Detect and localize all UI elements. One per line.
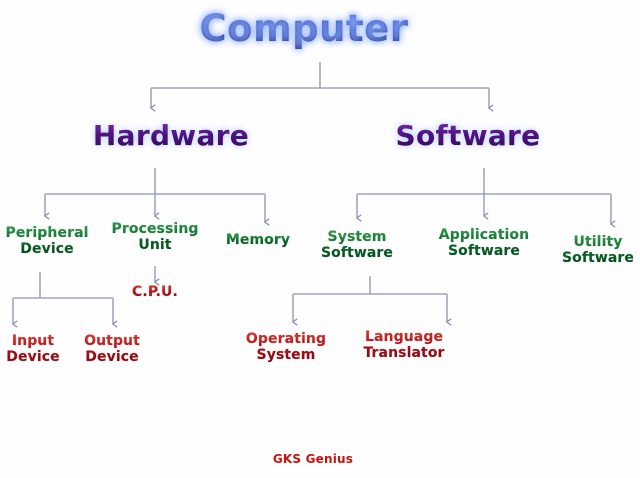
- node-language-translator[interactable]: Language Translator: [363, 330, 444, 361]
- node-computer[interactable]: Computer: [200, 8, 409, 49]
- node-peripheral-device[interactable]: Peripheral Device: [5, 226, 88, 257]
- computer-classification-diagram: Computer Hardware Software Peripheral De…: [0, 0, 640, 478]
- node-input-device[interactable]: Input Device: [6, 334, 59, 365]
- node-operating-system[interactable]: Operating System: [246, 332, 326, 363]
- node-application-software[interactable]: Application Software: [439, 228, 529, 259]
- node-hardware[interactable]: Hardware: [93, 120, 249, 151]
- node-memory[interactable]: Memory: [226, 233, 290, 249]
- node-system-software[interactable]: System Software: [321, 230, 393, 261]
- node-processing-unit[interactable]: Processing Unit: [111, 222, 198, 253]
- watermark-label: GKS Genius: [273, 452, 353, 466]
- node-software[interactable]: Software: [396, 120, 541, 151]
- node-cpu[interactable]: C.P.U.: [132, 285, 178, 301]
- node-output-device[interactable]: Output Device: [84, 334, 140, 365]
- node-utility-software[interactable]: Utility Software: [562, 235, 634, 266]
